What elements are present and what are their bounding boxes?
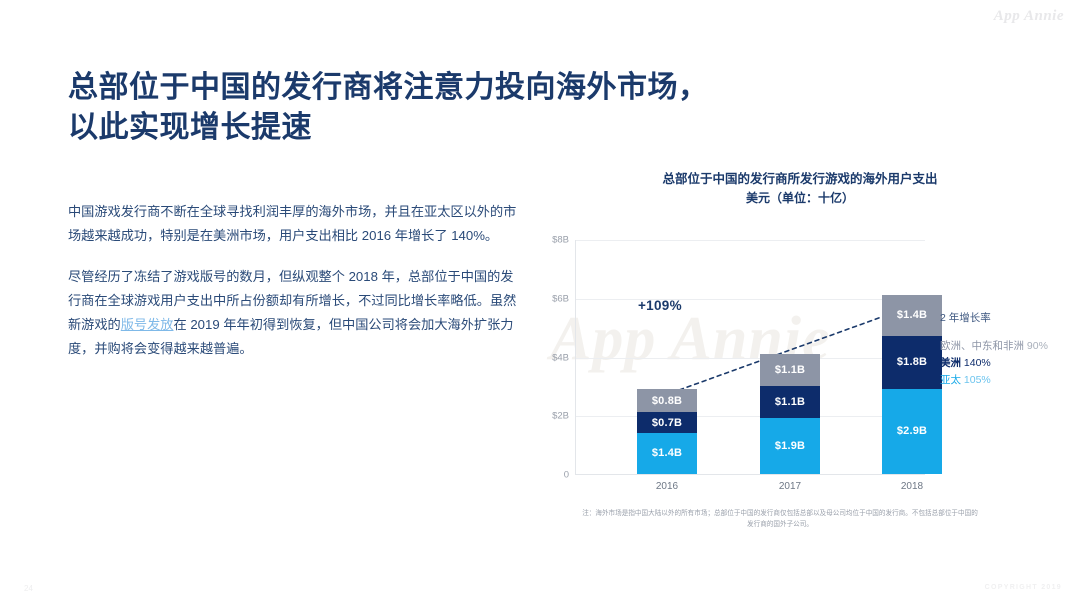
bar-segment-amer[interactable]: $1.1B <box>760 386 820 418</box>
paragraph-2: 尽管经历了冻结了游戏版号的数月，但纵观整个 2018 年，总部位于中国的发行商在… <box>68 265 518 361</box>
bar-segment-emea[interactable]: $0.8B <box>637 389 697 413</box>
gridline <box>576 358 925 359</box>
legend-value: 90% <box>1024 340 1048 352</box>
legend-row: 亚太 105% <box>940 372 1080 389</box>
legend-row: 美洲 140% <box>940 355 1080 372</box>
y-axis-tick-label: $4B <box>552 352 569 363</box>
bar-segment-amer[interactable]: $1.8B <box>882 336 942 389</box>
slide-number: 24 <box>24 584 33 593</box>
bar-segment-apac[interactable]: $2.9B <box>882 389 942 474</box>
chart-footnote: 注：海外市场是指中国大陆以外的所有市场；总部位于中国的发行商仅包括总部以及母公司… <box>580 508 980 530</box>
y-axis-tick-label: $6B <box>552 293 569 304</box>
chart-subtitle: 美元（单位：十亿） <box>590 189 1010 206</box>
chart-plot-area: 0$2B$4B$6B$8B$0.8B$0.7B$1.4B2016$1.1B$1.… <box>575 240 925 475</box>
legend-value: 105% <box>961 374 991 386</box>
license-approval-link[interactable]: 版号发放 <box>121 317 174 332</box>
x-axis-tick-label: 2016 <box>637 481 697 492</box>
chart-plot-wrapper: App Annie 0$2B$4B$6B$8B$0.8B$0.7B$1.4B20… <box>530 232 950 502</box>
gridline <box>576 416 925 417</box>
y-axis-tick-label: $2B <box>552 411 569 422</box>
y-axis-tick-label: 0 <box>564 470 569 481</box>
y-axis-tick-label: $8B <box>552 235 569 246</box>
paragraph-1: 中国游戏发行商不断在全球寻找利润丰厚的海外市场，并且在亚太区以外的市场越来越成功… <box>68 200 518 248</box>
chart-legend: 2 年增长率 欧洲、中东和非洲 90%美洲 140%亚太 105% <box>940 310 1080 389</box>
bar-segment-apac[interactable]: $1.4B <box>637 433 697 474</box>
x-axis-tick-label: 2017 <box>760 481 820 492</box>
page-title: 总部位于中国的发行商将注意力投向海外市场， 以此实现增长提速 <box>68 68 808 148</box>
body-copy: 中国游戏发行商不断在全球寻找利润丰厚的海外市场，并且在亚太区以外的市场越来越成功… <box>68 200 518 361</box>
bar-segment-emea[interactable]: $1.1B <box>760 354 820 386</box>
chart-block: 总部位于中国的发行商所发行游戏的海外用户支出 美元（单位：十亿） App Ann… <box>530 170 1070 550</box>
bar-segment-emea[interactable]: $1.4B <box>882 295 942 336</box>
chart-title: 总部位于中国的发行商所发行游戏的海外用户支出 <box>590 170 1010 188</box>
x-axis-tick-label: 2018 <box>882 481 942 492</box>
page-title-line-1: 总部位于中国的发行商将注意力投向海外市场， <box>68 68 808 108</box>
legend-label: 美洲 <box>940 357 961 369</box>
legend-row: 欧洲、中东和非洲 90% <box>940 338 1080 355</box>
bar-segment-amer[interactable]: $0.7B <box>637 412 697 433</box>
legend-label: 欧洲、中东和非洲 <box>940 340 1024 352</box>
legend-value: 140% <box>961 357 991 369</box>
growth-annotation: +109% <box>638 298 682 313</box>
app-annie-logo: App Annie <box>994 8 1064 25</box>
page-title-line-2: 以此实现增长提速 <box>68 108 808 148</box>
gridline <box>576 299 925 300</box>
bar-column[interactable]: $1.4B$1.8B$2.9B2018 <box>882 295 942 474</box>
legend-title: 2 年增长率 <box>940 310 1080 325</box>
bar-column[interactable]: $0.8B$0.7B$1.4B2016 <box>637 389 697 474</box>
bar-segment-apac[interactable]: $1.9B <box>760 418 820 474</box>
copyright-notice: COPYRIGHT 2019 <box>985 584 1062 591</box>
legend-label: 亚太 <box>940 374 961 386</box>
gridline <box>576 240 925 241</box>
bar-column[interactable]: $1.1B$1.1B$1.9B2017 <box>760 354 820 474</box>
